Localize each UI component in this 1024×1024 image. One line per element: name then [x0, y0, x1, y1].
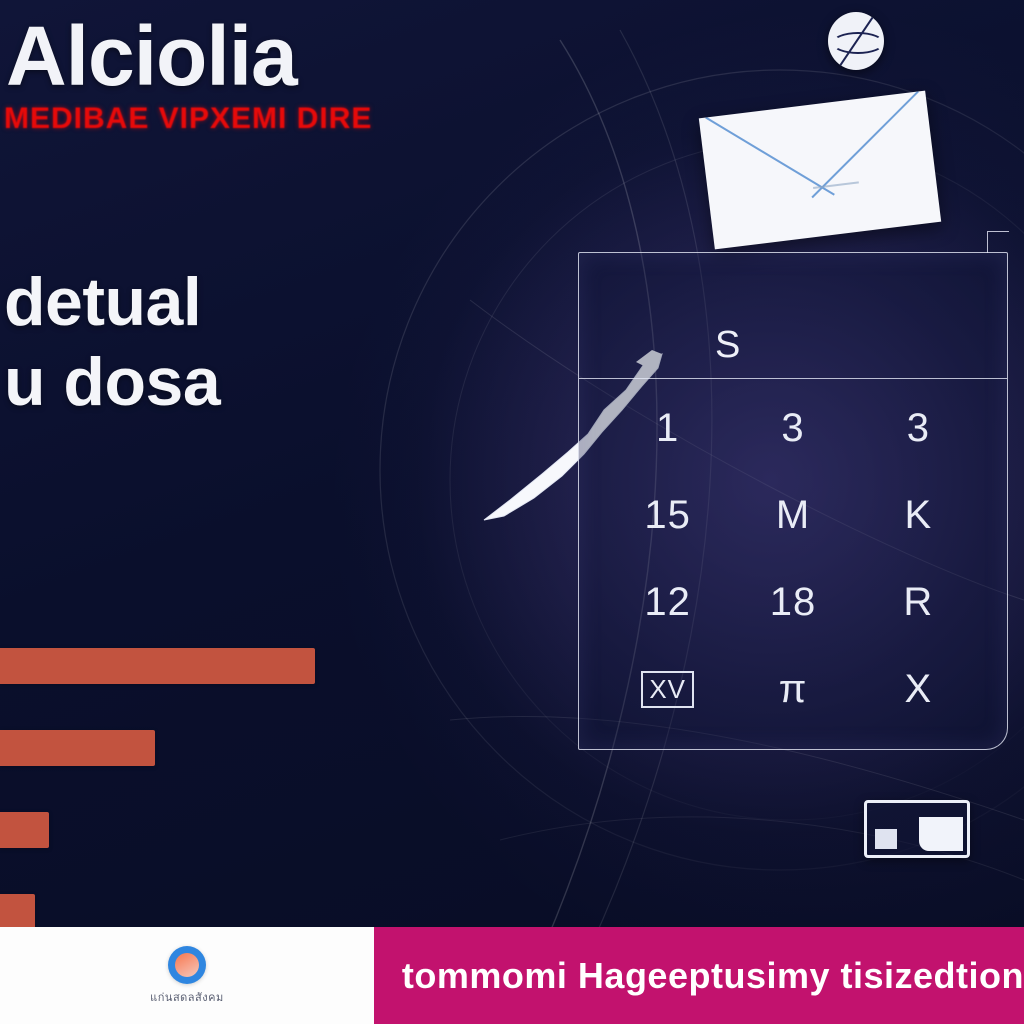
grid-cell[interactable]: π	[730, 646, 855, 733]
globe-icon	[828, 12, 884, 70]
grid-cell[interactable]: 18	[730, 559, 855, 646]
chart-bar	[0, 894, 35, 930]
circle-logo-icon	[168, 946, 206, 984]
chart-bar	[0, 648, 315, 684]
chart-bar	[0, 730, 155, 766]
panel-notch	[987, 231, 1009, 253]
chart-bar	[0, 812, 49, 848]
grid-cell[interactable]: 3	[856, 385, 981, 472]
footer-banner-text: tommomi Hageeptusimy tisizedtion	[402, 955, 1024, 997]
footer: แก่นสดลสังคม tommomi Hageeptusimy tisize…	[0, 927, 1024, 1024]
grid-cell[interactable]: 15	[605, 472, 730, 559]
device-icon	[864, 800, 970, 858]
grid-cell[interactable]: 12	[605, 559, 730, 646]
headline-line-1: detual	[4, 264, 201, 340]
envelope-flap	[699, 91, 941, 250]
footer-logo-area: แก่นสดลสังคม	[0, 927, 374, 1024]
grid-cell[interactable]: XV	[605, 646, 730, 733]
poster-canvas: Alciolia MEDIBAE VIPXEMI DIRE detual u d…	[0, 0, 1024, 1024]
headline-line-2: u dosa	[4, 342, 220, 422]
panel-header-label: S	[715, 326, 740, 364]
calendar-grid: 1 3 3 15 M K 12 18 R XV π X	[579, 385, 1007, 733]
calendar-panel: S 1 3 3 15 M K 12 18 R XV π X	[578, 252, 1008, 750]
grid-cell[interactable]: 1	[605, 385, 730, 472]
footer-banner: tommomi Hageeptusimy tisizedtion	[374, 927, 1024, 1024]
panel-header: S	[579, 253, 1007, 379]
footer-logo-caption: แก่นสดลสังคม	[150, 988, 224, 1006]
grid-cell-label: XV	[641, 671, 694, 708]
grid-cell[interactable]: K	[856, 472, 981, 559]
grid-cell[interactable]: 3	[730, 385, 855, 472]
headline: detual u dosa	[4, 262, 220, 422]
grid-cell[interactable]: R	[856, 559, 981, 646]
grid-cell[interactable]: X	[856, 646, 981, 733]
grid-cell[interactable]: M	[730, 472, 855, 559]
brand-subtitle: MEDIBAE VIPXEMI DIRE	[4, 104, 372, 134]
envelope-icon	[699, 91, 941, 250]
circle-logo-inner	[175, 953, 199, 977]
brand-title: Alciolia	[6, 14, 297, 98]
bar-chart	[0, 648, 340, 930]
